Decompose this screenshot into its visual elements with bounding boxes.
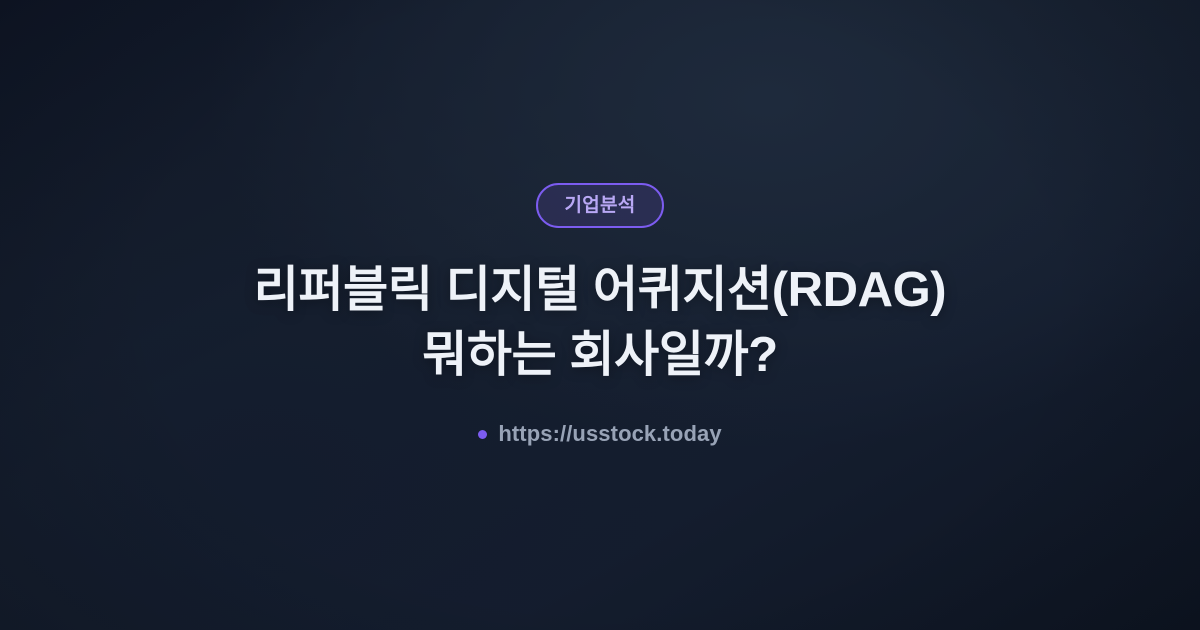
- page-title-line-1: 리퍼블릭 디지털 어퀴지션(RDAG): [254, 258, 946, 323]
- og-share-card: 기업분석 리퍼블릭 디지털 어퀴지션(RDAG) 뭐하는 회사일까? https…: [0, 0, 1200, 630]
- page-title: 리퍼블릭 디지털 어퀴지션(RDAG) 뭐하는 회사일까?: [254, 258, 946, 387]
- bullet-dot-icon: [478, 430, 487, 439]
- site-url-label: https://usstock.today: [498, 421, 721, 447]
- site-url-row: https://usstock.today: [478, 421, 721, 447]
- page-title-line-2: 뭐하는 회사일까?: [254, 323, 946, 388]
- category-badge-label: 기업분석: [564, 196, 635, 215]
- category-badge: 기업분석: [536, 183, 663, 228]
- card-content: 기업분석 리퍼블릭 디지털 어퀴지션(RDAG) 뭐하는 회사일까? https…: [0, 0, 1200, 630]
